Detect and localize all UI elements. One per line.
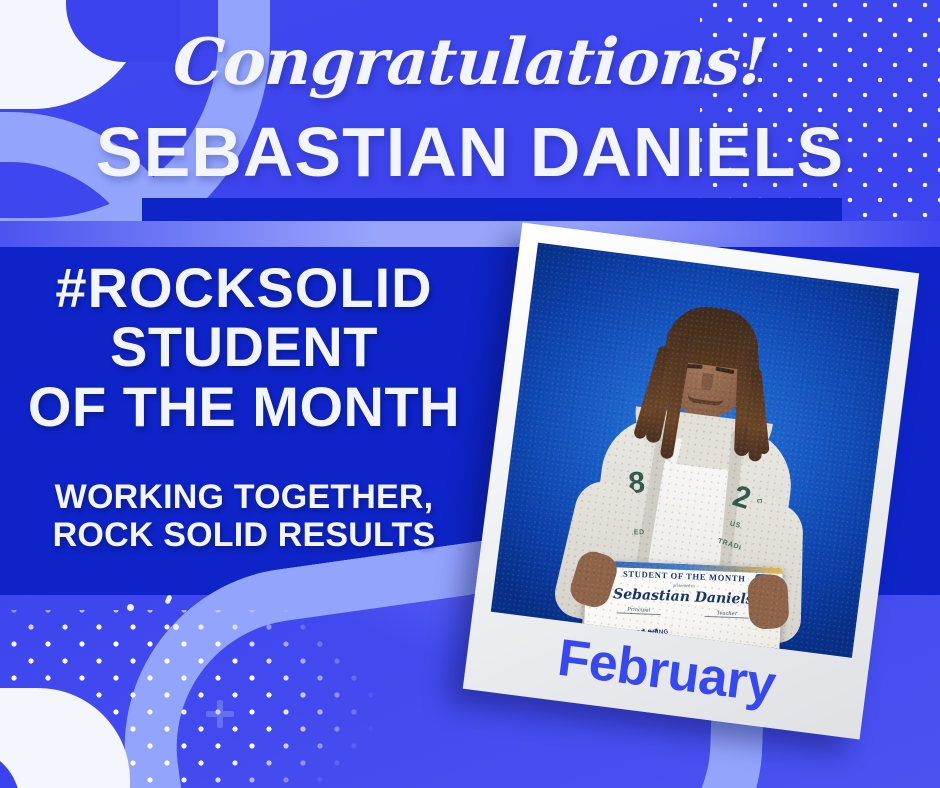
student-photo: 8 2 NYC 'RED USA TRADEMARK DIV. xyxy=(491,243,899,658)
student-figure-illustration: 8 2 NYC 'RED USA TRADEMARK DIV. xyxy=(491,243,899,658)
award-line-student: STUDENT xyxy=(0,317,488,376)
hand-right xyxy=(747,574,789,630)
sparkle-dot xyxy=(127,604,134,611)
student-of-the-month-poster: Congratulations! SEBASTIAN DANIELS #ROCK… xyxy=(0,0,940,788)
tagline-block: WORKING TOGETHER, ROCK SOLID RESULTS xyxy=(0,478,488,554)
tagline-line-1: WORKING TOGETHER, xyxy=(0,478,488,516)
congratulations-headline: Congratulations! xyxy=(0,25,940,100)
certificate-signature-left: Principal xyxy=(617,606,661,615)
award-copy-block: #ROCKSOLID STUDENT OF THE MONTH WORKING … xyxy=(0,258,488,554)
light-blue-divider-band xyxy=(0,221,940,248)
polaroid-frame: 8 2 NYC 'RED USA TRADEMARK DIV. xyxy=(463,222,919,739)
certificate-signature-right: Teacher xyxy=(705,610,749,619)
student-name-heading: SEBASTIAN DANIELS xyxy=(0,112,940,192)
plus-icon xyxy=(206,700,234,728)
sparkle-dot xyxy=(173,624,179,630)
award-line-hashtag: #ROCKSOLID xyxy=(0,258,488,317)
award-line-of-the-month: OF THE MONTH xyxy=(0,377,488,436)
certificate-signatures: Principal Teacher xyxy=(595,605,771,619)
tagline-line-2: ROCK SOLID RESULTS xyxy=(0,516,488,554)
